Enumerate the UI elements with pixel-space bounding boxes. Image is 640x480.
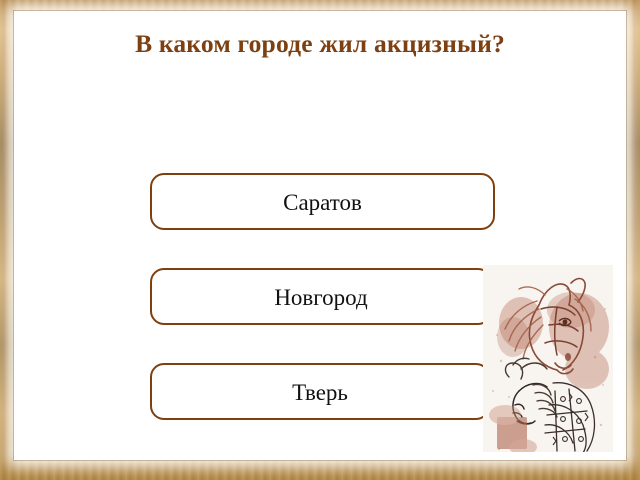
horse-and-peasant-sketch-image	[483, 265, 613, 452]
answer-options-list: Саратов Новгород Тверь	[150, 173, 495, 420]
horse-and-peasant-sketch-svg	[483, 265, 613, 452]
answer-option-saratov[interactable]: Саратов	[150, 173, 495, 230]
answer-option-novgorod[interactable]: Новгород	[150, 268, 492, 325]
answer-option-label: Тверь	[292, 381, 348, 404]
answer-option-label: Саратов	[283, 191, 362, 214]
slide-canvas: В каком городе жил акцизный? Саратов Нов…	[22, 19, 618, 452]
slide-root: В каком городе жил акцизный? Саратов Нов…	[0, 0, 640, 480]
answer-option-tver[interactable]: Тверь	[150, 363, 490, 420]
answer-option-label: Новгород	[274, 286, 367, 309]
question-title: В каком городе жил акцизный?	[22, 29, 618, 59]
